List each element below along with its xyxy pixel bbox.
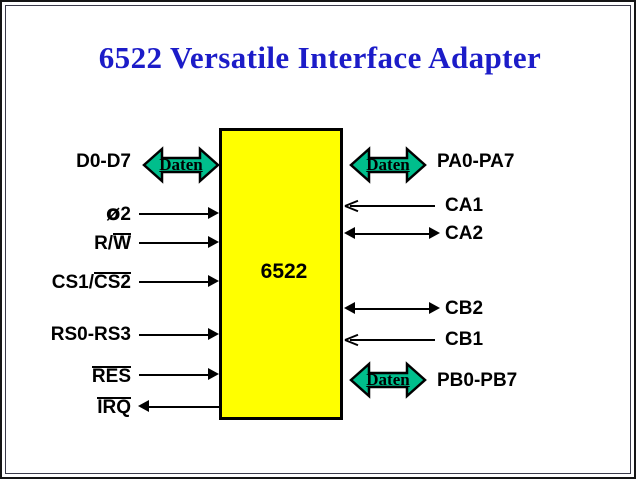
double-arrow-icon <box>142 145 220 185</box>
page-title: 6522 Versatile Interface Adapter <box>2 40 636 76</box>
signal-label-reset: RES <box>26 366 131 386</box>
signal-label-ca2: CA2 <box>445 224 483 243</box>
signal-label-data-bus: D0-D7 <box>26 152 131 171</box>
irq-overline: IRQ <box>97 397 131 417</box>
wire-chip-select <box>139 281 209 283</box>
bus-arrow-data: Daten <box>142 145 220 185</box>
arrowhead-cb2-right <box>429 302 440 314</box>
signal-label-cb1: CB1 <box>445 330 483 349</box>
arrowhead-reset <box>208 368 219 380</box>
arrowhead-interrupt-request <box>138 400 149 412</box>
phi-symbol: ø <box>106 201 120 225</box>
wire-interrupt-request <box>148 406 219 408</box>
arrowhead-phi2 <box>208 207 219 219</box>
wire-ca1 <box>350 205 435 207</box>
wire-cb1 <box>350 339 435 341</box>
arrowhead-ca2-left <box>344 227 355 239</box>
signal-label-phi2: ø2 <box>26 204 131 224</box>
arrowhead-register-select <box>208 328 219 340</box>
diagram-canvas: 6522 Versatile Interface Adapter 6522 D0… <box>0 0 636 479</box>
rw-overline: W <box>113 233 131 253</box>
chip-body: 6522 <box>219 128 343 420</box>
arrowhead-ca2-right <box>429 227 440 239</box>
arrowhead-read-write <box>208 236 219 248</box>
wire-ca2 <box>354 233 430 235</box>
signal-label-interrupt-request: IRQ <box>26 397 131 417</box>
cs-overline: CS2 <box>94 272 131 292</box>
rw-prefix: R/ <box>94 233 113 254</box>
wire-phi2 <box>139 213 209 215</box>
double-arrow-icon <box>349 145 427 185</box>
wire-register-select <box>139 334 209 336</box>
double-arrow-icon <box>349 360 427 400</box>
wire-read-write <box>139 242 209 244</box>
phi2-index: 2 <box>120 204 131 225</box>
signal-label-cb2: CB2 <box>445 299 483 318</box>
wire-cb2 <box>354 308 430 310</box>
signal-label-register-select: RS0-RS3 <box>16 325 131 344</box>
arrowhead-ca1 <box>345 199 358 212</box>
res-overline: RES <box>92 366 131 386</box>
signal-label-ca1: CA1 <box>445 196 483 215</box>
arrowhead-chip-select <box>208 275 219 287</box>
signal-label-chip-select: CS1/CS2 <box>16 272 131 292</box>
signal-label-read-write: R/W <box>26 233 131 253</box>
arrowhead-cb2-left <box>344 302 355 314</box>
bus-arrow-port-a: Daten <box>349 145 427 185</box>
signal-label-port-b: PB0-PB7 <box>437 371 517 390</box>
arrowhead-cb1 <box>345 333 358 346</box>
signal-label-port-a: PA0-PA7 <box>437 152 514 171</box>
bus-arrow-port-b: Daten <box>349 360 427 400</box>
cs-prefix: CS1/ <box>52 272 94 293</box>
wire-reset <box>139 374 209 376</box>
chip-label: 6522 <box>222 260 346 284</box>
